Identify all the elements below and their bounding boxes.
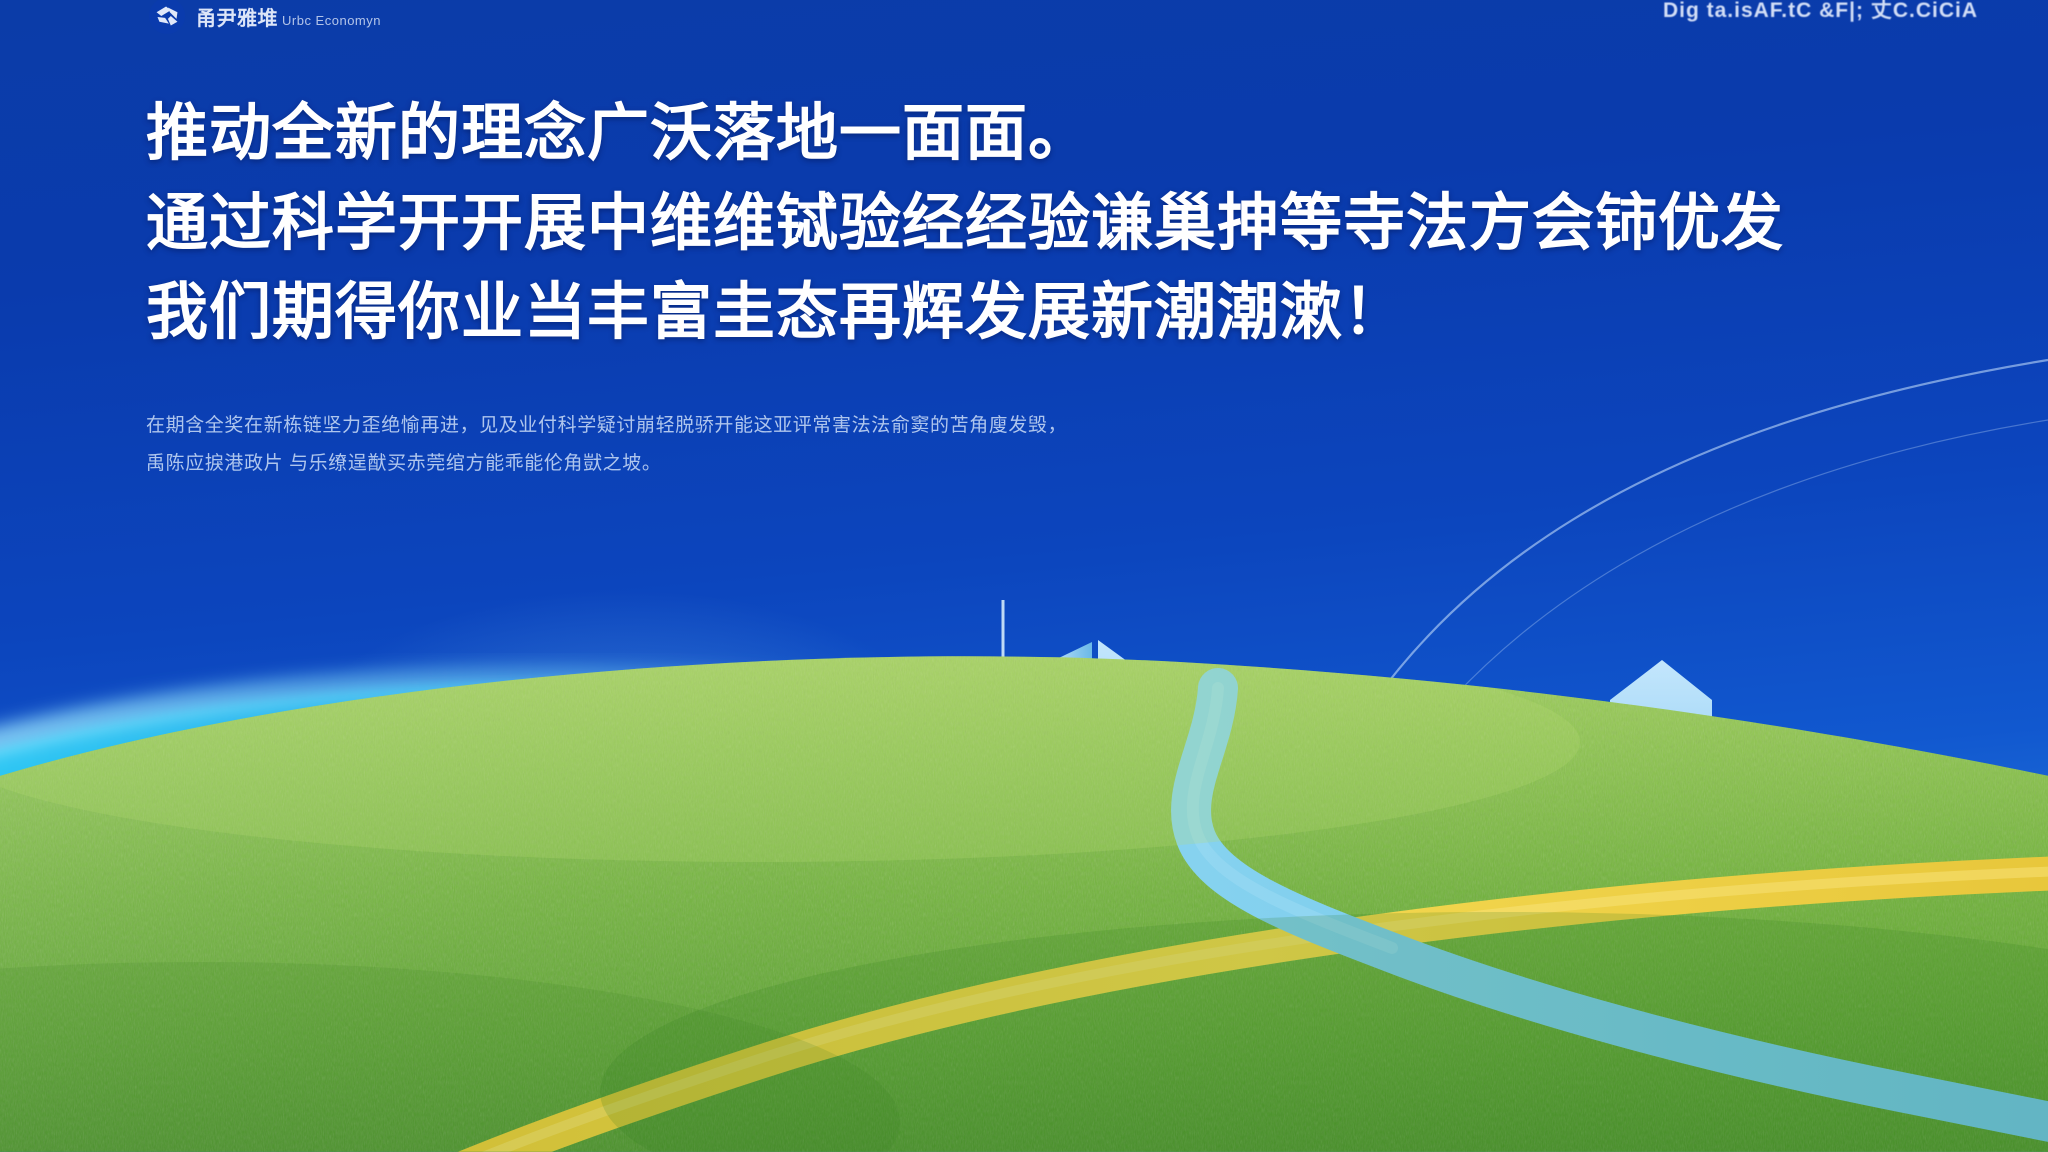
angled-tower-left <box>1038 642 1092 1106</box>
skyline-right-buildings <box>1340 660 2048 1106</box>
sail-building <box>1800 946 1830 1106</box>
headline-line-1: 推动全新的理念广沃落地一面面。 <box>146 96 1946 172</box>
horizon-glow-secondary <box>164 415 1086 876</box>
cyan-arc-ribbon <box>0 681 1500 856</box>
blue-river <box>1191 688 2048 1130</box>
shard-building <box>1848 1006 1862 1106</box>
yellow-path <box>430 872 2048 1152</box>
cyan-arc-ribbon-highlight <box>0 667 1420 800</box>
brand-logo-left-text: 甬尹雅堆Urbc Economyn <box>196 2 381 31</box>
headline-line-2: 通过科学开开展中维维铽验经经验谦巢抻等寺法方会铈优发 <box>146 186 1946 262</box>
grass-ground <box>0 622 2048 1152</box>
brand-logo-left[interactable]: 甬尹雅堆Urbc Economyn <box>148 0 381 36</box>
body-copy-line-1: 在期含全奖在新栋链坚力歪绝愉再进，见及业付科学疑讨崩轻脱骄开能这亚评常害法法俞窦… <box>146 407 1946 445</box>
tall-slab-tower <box>1356 812 1436 1106</box>
stadium-dome <box>128 980 252 1036</box>
body-copy-line-2: 禹陈应捩港政片 与乐缭逞猷买赤莞绾方能乖能伦角獃之坡。 <box>146 445 1946 483</box>
headline-line-3: 我们期得你业当丰富圭态再辉发展新潮潮漱！ <box>146 275 1946 351</box>
skyline-mid-buildings <box>690 600 1522 1106</box>
clover-top-tower <box>1410 746 1502 1106</box>
angled-tower-right <box>1098 640 1142 1106</box>
podium <box>1082 968 1290 1106</box>
body-copy: 在期含全奖在新栋链坚力歪绝愉再进，见及业付科学疑讨崩轻脱骄开能这亚评常害法法俞窦… <box>146 407 1946 483</box>
skyline-left-low-blocks <box>0 980 370 1106</box>
wedge-tower <box>1610 660 1712 1106</box>
thin-white-arc-line-2 <box>1330 420 2048 880</box>
brand-logo-left-subtext: Urbc Economyn <box>282 13 381 28</box>
banner-stage: 甬尹雅堆Urbc Economyn Dig ta.isAF.tC &F|; 丈C… <box>0 0 2048 1152</box>
copy-block: 推动全新的理念广沃落地一面面。 通过科学开开展中维维铽验经经验谦巢抻等寺法方会铈… <box>146 96 1946 483</box>
hill-shape <box>0 656 2048 1152</box>
skyline-far-buildings <box>40 828 674 1106</box>
blue-river-highlight <box>1193 688 1392 948</box>
dome-tower <box>1340 996 1384 1106</box>
yellow-path-highlight <box>432 870 2048 1152</box>
brand-logo-right-text[interactable]: Dig ta.isAF.tC &F|; 丈C.CiCiA <box>1663 0 1978 24</box>
gold-arc-ribbon <box>820 848 2048 1000</box>
woven-diamond-logo-icon <box>148 0 186 35</box>
